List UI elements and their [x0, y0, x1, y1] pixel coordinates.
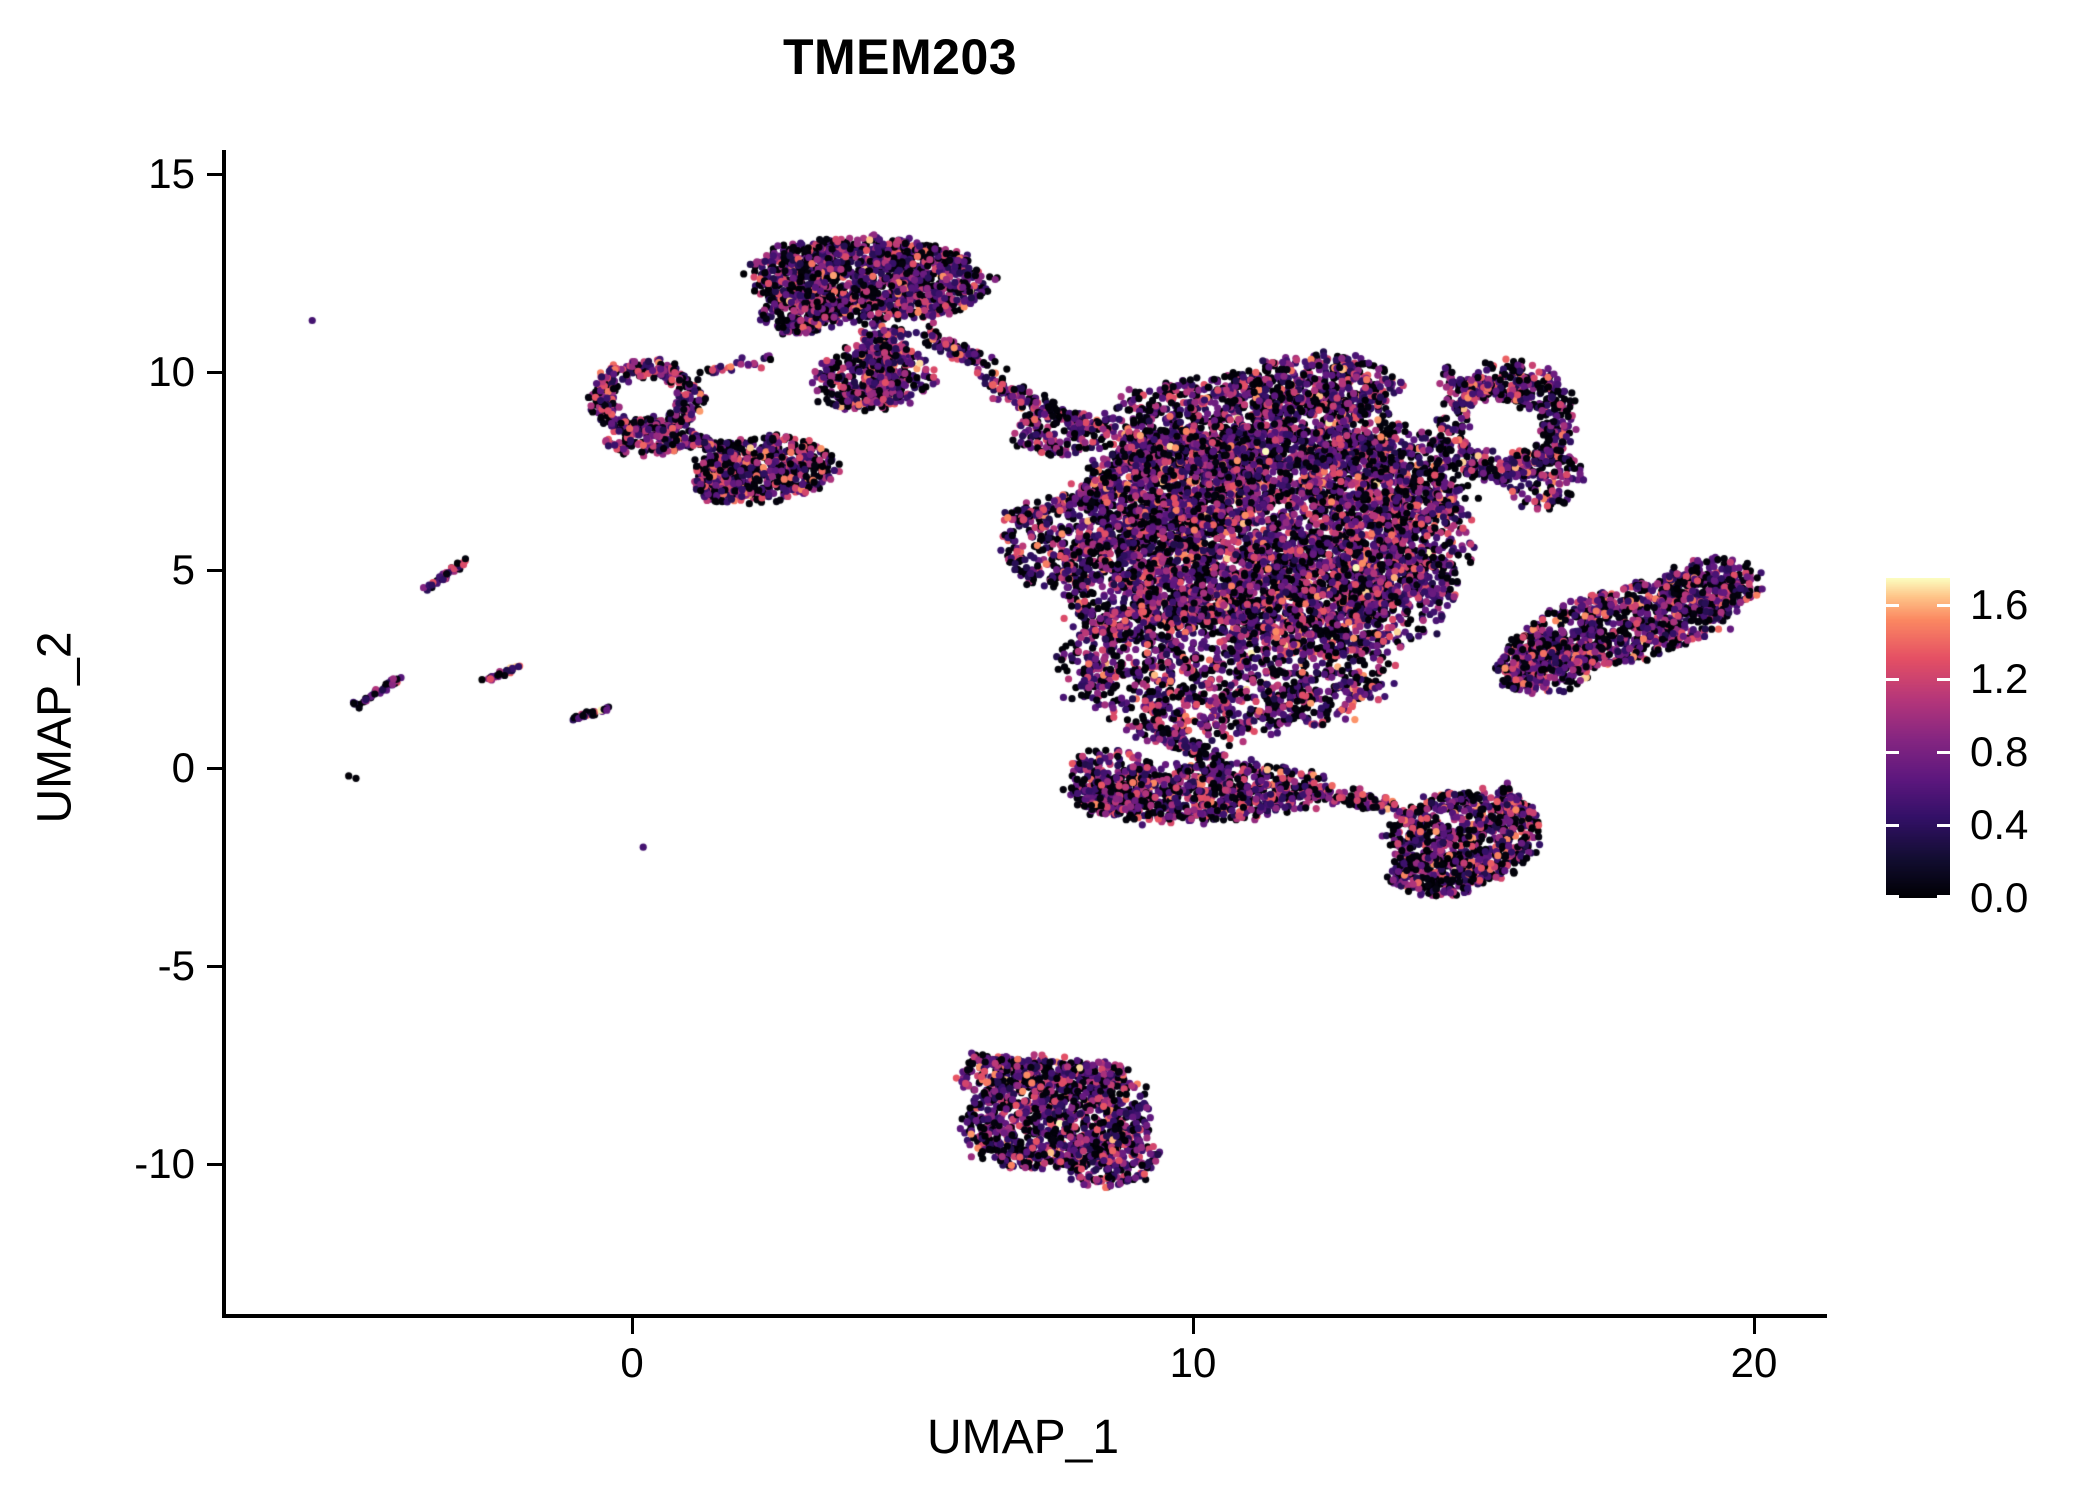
colorbar-tick-mark [1937, 678, 1950, 681]
colorbar-legend: 1.61.20.80.40.0 [1886, 578, 2086, 908]
colorbar-tick-mark [1886, 678, 1899, 681]
colorbar-tick-label: 1.6 [1970, 584, 2028, 626]
y-tick-label: 15 [0, 153, 195, 195]
colorbar-tick-mark [1937, 824, 1950, 827]
y-tick-mark [207, 569, 222, 572]
y-tick-label: -10 [0, 1143, 195, 1185]
colorbar-tick-label: 0.4 [1970, 804, 2028, 846]
y-tick-mark [207, 1163, 222, 1166]
colorbar-tick-mark [1886, 604, 1899, 607]
x-tick-mark [631, 1318, 634, 1334]
y-tick-mark [207, 173, 222, 176]
colorbar-tick-label: 0.0 [1970, 877, 2028, 919]
x-tick-label: 10 [1123, 1342, 1263, 1384]
umap-figure: TMEM203 -10-5051015 01020 UMAP_1 UMAP_2 … [0, 0, 2100, 1500]
colorbar-tick-mark [1937, 604, 1950, 607]
colorbar-gradient [1886, 578, 1950, 898]
colorbar-tick-mark [1886, 824, 1899, 827]
y-tick-mark [207, 371, 222, 374]
colorbar-tick-label: 1.2 [1970, 658, 2028, 700]
x-tick-mark [1753, 1318, 1756, 1334]
x-tick-label: 0 [562, 1342, 702, 1384]
colorbar-tick-mark [1937, 895, 1950, 898]
y-tick-label: 10 [0, 351, 195, 393]
colorbar-tick-label: 0.8 [1970, 731, 2028, 773]
y-axis-title: UMAP_2 [28, 428, 83, 1028]
x-axis-line [222, 1314, 1827, 1318]
x-tick-mark [1192, 1318, 1195, 1334]
colorbar-tick-mark [1886, 895, 1899, 898]
colorbar-tick-mark [1937, 751, 1950, 754]
y-tick-mark [207, 767, 222, 770]
y-axis-line [222, 150, 226, 1318]
colorbar-tick-mark [1886, 751, 1899, 754]
scatter-plot-canvas [0, 0, 2100, 1500]
x-axis-title: UMAP_1 [223, 1410, 1823, 1465]
x-tick-label: 20 [1684, 1342, 1824, 1384]
y-tick-mark [207, 965, 222, 968]
